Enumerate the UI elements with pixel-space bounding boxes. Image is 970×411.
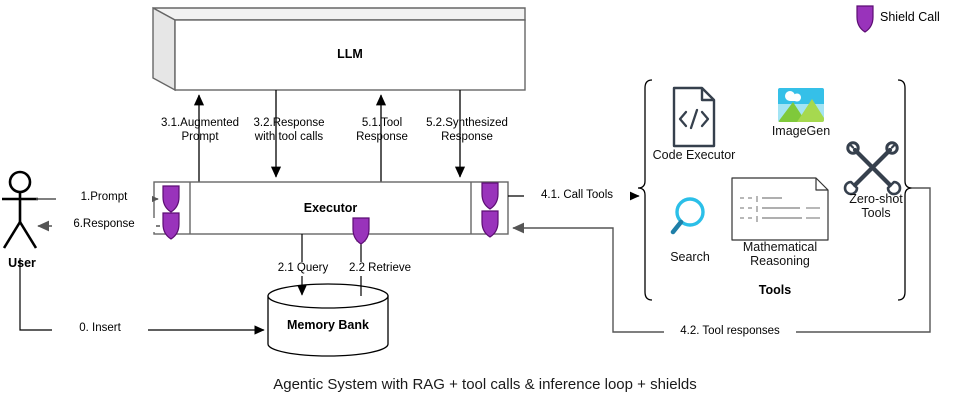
executor-label: Executor <box>190 201 471 216</box>
arrow-0-insert <box>20 258 264 330</box>
flow-label-2-1-query: 2.1 Query <box>265 262 341 276</box>
formula-document-icon <box>732 178 828 240</box>
shield-icon-legend <box>857 6 873 32</box>
tools-left-brace <box>638 80 652 300</box>
flow-label-5-1: 5.1.Tool Response <box>337 117 427 144</box>
tool-label-zero-shot-tools: Zero-shot Tools <box>838 192 914 221</box>
user-label: User <box>0 256 44 271</box>
llm-label: LLM <box>175 47 525 62</box>
code-document-icon <box>674 88 714 146</box>
shield-icon-executor-memory <box>353 218 369 244</box>
flow-label-1-prompt: 1.Prompt <box>56 191 152 205</box>
user-actor <box>2 172 38 248</box>
flow-label-0-insert: 0. Insert <box>52 322 148 336</box>
diagram-caption: Agentic System with RAG + tool calls & i… <box>0 376 970 393</box>
flow-label-3-2: 3.2.Response with tool calls <box>233 117 345 144</box>
shield-icon-executor-out-response <box>163 213 179 239</box>
image-icon <box>778 88 824 122</box>
flow-label-4-2-tool-responses: 4.2. Tool responses <box>664 325 796 339</box>
diagram-canvas: LLM Executor Memory Bank User Tools 3.1.… <box>0 0 970 411</box>
flow-label-5-2: 5.2.Synthesized Response <box>415 117 519 144</box>
tools-group-label: Tools <box>715 283 835 298</box>
crossed-wrenches-icon <box>845 143 900 194</box>
flow-label-6-response: 6.Response <box>52 218 156 232</box>
tool-label-search: Search <box>655 250 725 264</box>
flow-label-4-1-call-tools: 4.1. Call Tools <box>524 189 630 203</box>
legend-shield-call-label: Shield Call <box>880 10 970 25</box>
tool-label-math-reasoning: Mathematical Reasoning <box>724 240 836 269</box>
memory-bank-label: Memory Bank <box>268 318 388 333</box>
tool-label-code-executor: Code Executor <box>645 148 743 162</box>
tool-label-imagegen: ImageGen <box>761 124 841 138</box>
magnifier-icon <box>673 199 703 232</box>
flow-label-2-2-retrieve: 2.2 Retrieve <box>334 262 426 276</box>
